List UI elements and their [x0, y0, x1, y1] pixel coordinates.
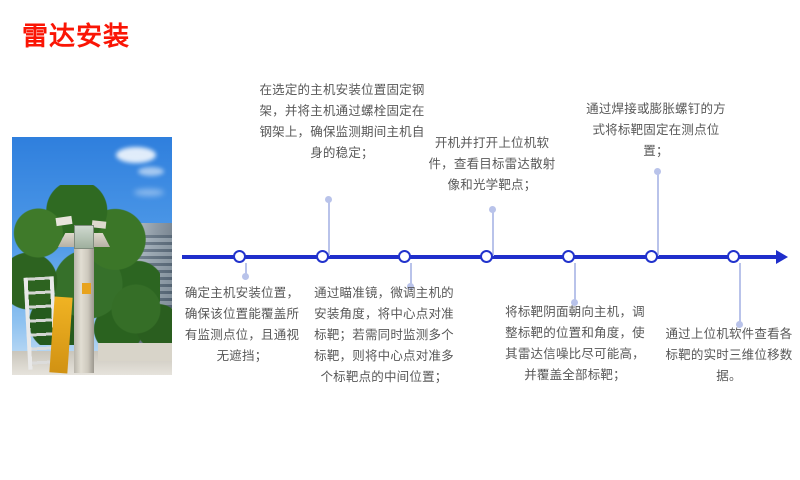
timeline-node-6[interactable]: [645, 250, 658, 263]
timeline-node-2[interactable]: [316, 250, 329, 263]
connector-stem-3: [410, 263, 412, 285]
timeline-node-5[interactable]: [562, 250, 575, 263]
timeline-node-4[interactable]: [480, 250, 493, 263]
step-text-7: 通过上位机软件查看各标靶的实时三维位移数据。: [664, 324, 794, 387]
photo-cloud: [116, 147, 156, 163]
step-text-5: 将标靶阴面朝向主机，调整标靶的位置和角度，使其雷达信噪比尽可能高，并覆盖全部标靶…: [505, 302, 645, 386]
photo-equipment-box: [74, 225, 94, 249]
step-text-2: 在选定的主机安装位置固定钢架，并将主机通过螺栓固定在钢架上，确保监测期间主机自身…: [255, 80, 429, 164]
step-text-4: 开机并打开上位机软件，查看目标雷达散射像和光学靶点；: [428, 133, 556, 196]
step-text-3: 通过瞄准镜，微调主机的安装角度，将中心点对准标靶；若需同时监测多个标靶，则将中心…: [313, 283, 455, 388]
connector-stem-6: [657, 172, 659, 256]
connector-dot-2: [325, 196, 332, 203]
connector-dot-6: [654, 168, 661, 175]
photo-wall: [98, 343, 172, 361]
connector-stem-7: [739, 263, 741, 323]
photo-cloud: [138, 167, 164, 176]
timeline-node-7[interactable]: [727, 250, 740, 263]
step-text-6: 通过焊接或膨胀螺钉的方式将标靶固定在测点位置；: [583, 99, 729, 162]
connector-stem-4: [492, 210, 494, 256]
radar-installation-photo: [12, 137, 172, 375]
connector-stem-2: [328, 200, 330, 256]
photo-concrete-pole: [74, 245, 94, 373]
connector-stem-5: [574, 263, 576, 301]
connector-dot-1: [242, 273, 249, 280]
photo-junction-box: [82, 283, 91, 294]
timeline-arrow-icon: [776, 250, 788, 264]
connector-dot-4: [489, 206, 496, 213]
step-text-1: 确定主机安装位置，确保该位置能覆盖所有监测点位，且通视无遮挡；: [182, 283, 302, 367]
timeline-node-3[interactable]: [398, 250, 411, 263]
page-title: 雷达安装: [22, 22, 130, 51]
timeline-node-1[interactable]: [233, 250, 246, 263]
